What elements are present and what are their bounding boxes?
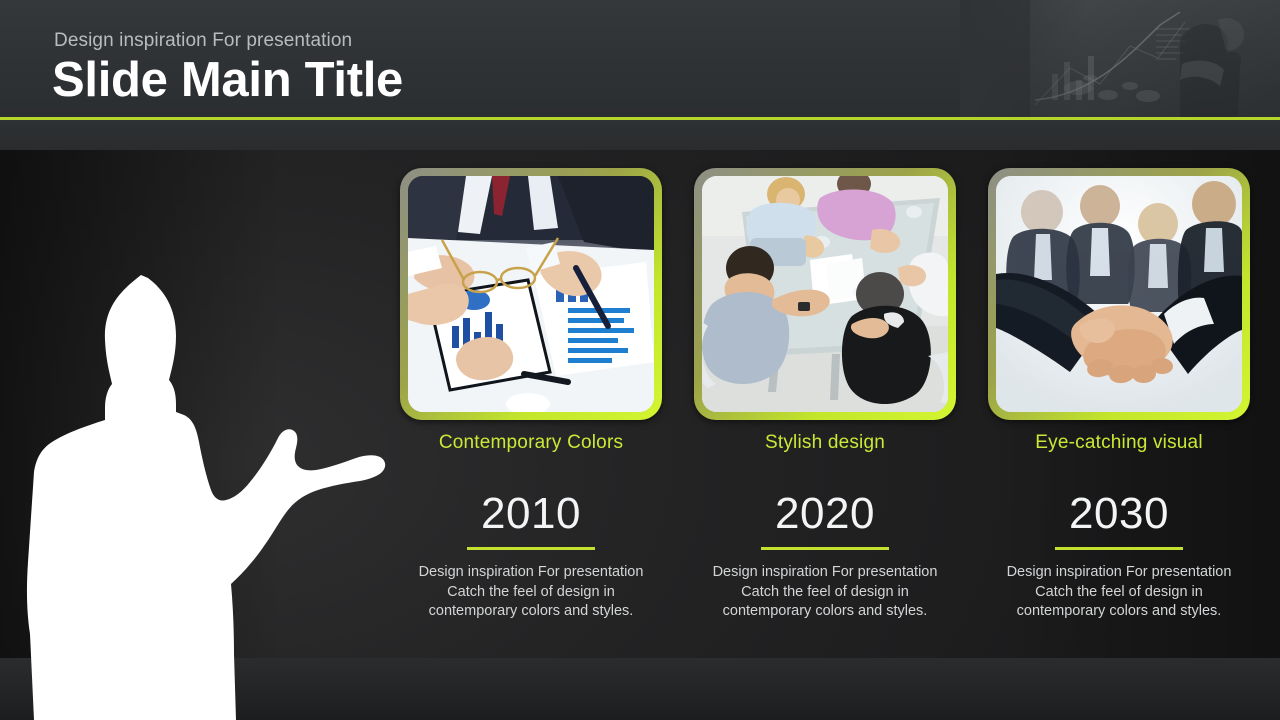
column-1: Contemporary Colors 2010 Design inspirat… — [400, 168, 662, 648]
column-body-3: Design inspiration For presentation Catc… — [993, 563, 1245, 622]
card-caption-1: Contemporary Colors — [439, 432, 623, 454]
image-card-2[interactable] — [694, 168, 956, 420]
column-2: Stylish design 2020 Design inspiration F… — [694, 168, 956, 648]
team-meeting-table-photo — [702, 176, 948, 412]
year-underline-2 — [761, 547, 889, 550]
year-label-1: 2010 — [481, 492, 581, 536]
column-body-2: Design inspiration For presentation Catc… — [699, 563, 951, 622]
header-under-strip — [0, 120, 1280, 150]
year-label-2: 2020 — [775, 492, 875, 536]
card-caption-3: Eye-catching visual — [1035, 432, 1203, 454]
year-label-3: 2030 — [1069, 492, 1169, 536]
year-underline-1 — [467, 547, 595, 550]
image-card-1[interactable] — [400, 168, 662, 420]
image-card-3[interactable] — [988, 168, 1250, 420]
year-underline-3 — [1055, 547, 1183, 550]
presentation-slide: Design inspiration For presentation Slid… — [0, 0, 1280, 720]
page-title: Slide Main Title — [52, 52, 403, 108]
column-body-1: Design inspiration For presentation Catc… — [405, 563, 657, 622]
presenter-silhouette — [8, 262, 408, 720]
content-columns: Contemporary Colors 2010 Design inspirat… — [400, 168, 1256, 648]
business-handshake-photo — [996, 176, 1242, 412]
header-photo-fade — [960, 0, 1090, 117]
slide-subtitle: Design inspiration For presentation — [54, 30, 352, 52]
card-caption-2: Stylish design — [765, 432, 885, 454]
slide-header: Design inspiration For presentation Slid… — [0, 0, 1280, 117]
header-accent-rule — [0, 117, 1280, 120]
column-3: Eye-catching visual 2030 Design inspirat… — [988, 168, 1250, 648]
business-charts-review-photo — [408, 176, 654, 412]
